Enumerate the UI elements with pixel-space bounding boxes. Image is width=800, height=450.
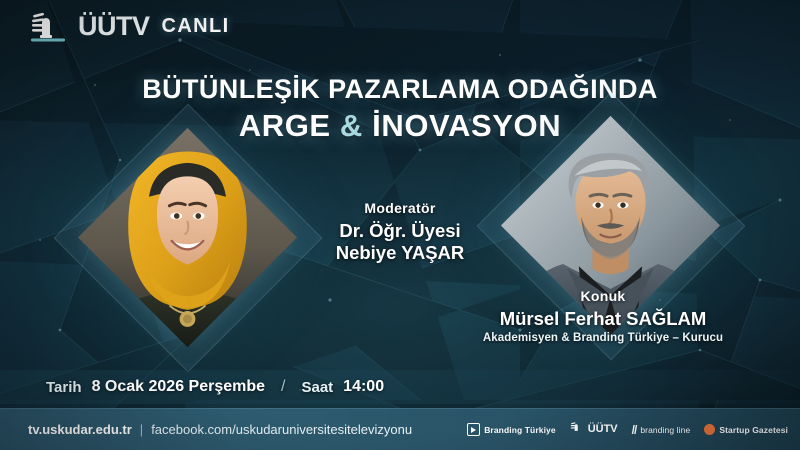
sponsor-label: Startup Gazetesi [719,425,788,435]
sponsor-logos: Branding Türkiye ÜÜTV [467,420,800,439]
footer-divider: | [140,422,143,437]
schedule-bar: Tarih 8 Ocak 2026 Perşembe / Saat 14:00 [0,370,800,404]
guest-subtitle: Akademisyen & Branding Türkiye – Kurucu [418,332,788,344]
guest-name: Mürsel Ferhat SAĞLAM [418,308,788,330]
program-title-line2: ARGE & İNOVASYON [0,109,800,143]
footer-bar: tv.uskudar.edu.tr | facebook.com/uskudar… [0,408,800,450]
footer-links: tv.uskudar.edu.tr | facebook.com/uskudar… [0,422,412,437]
startup-gazetesi-icon [704,424,715,435]
channel-logo-bar: ÜÜTV CANLI [30,8,230,44]
sponsor-label: branding line [640,425,690,435]
title-block: BÜTÜNLEŞİK PAZARLAMA ODAĞINDA ARGE & İNO… [0,74,800,143]
uutv-icon [570,420,584,439]
time-value: 14:00 [343,378,384,396]
title-arge: ARGE [239,108,331,143]
moderator-name-line2: Nebiye YAŞAR [336,242,465,263]
broadcast-promo-banner: ÜÜTV CANLI BÜTÜNLEŞİK PAZARLAMA ODAĞINDA… [0,0,800,450]
moderator-role-label: Moderatör [300,200,500,216]
schedule-separator: / [281,378,285,396]
title-ampersand: & [340,108,363,143]
branding-line-icon: // [632,424,637,436]
channel-logo-text: ÜÜTV [78,13,150,40]
moderator-credit: Moderatör Dr. Öğr. Üyesi Nebiye YAŞAR [300,200,500,264]
sponsor-startup-gazetesi: Startup Gazetesi [704,424,788,435]
title-inovasyon: İNOVASYON [372,108,561,143]
facebook-link[interactable]: facebook.com/uskudaruniversitesitelevizy… [151,422,412,437]
lighthouse-icon [30,8,66,44]
sponsor-branding-line: // branding line [632,424,691,436]
program-title-line1: BÜTÜNLEŞİK PAZARLAMA ODAĞINDA [0,74,800,104]
sponsor-uutv: ÜÜTV [570,420,618,439]
guest-credit: Konuk Mürsel Ferhat SAĞLAM Akademisyen &… [418,288,788,344]
guest-role-label: Konuk [418,288,788,304]
branding-turkiye-icon [467,423,480,436]
moderator-name-line1: Dr. Öğr. Üyesi [339,220,460,241]
sponsor-branding-turkiye: Branding Türkiye [467,423,556,436]
moderator-name: Dr. Öğr. Üyesi Nebiye YAŞAR [300,220,500,264]
live-badge: CANLI [162,15,230,38]
sponsor-label: ÜÜTV [588,424,618,435]
sponsor-label: Branding Türkiye [484,425,556,435]
time-label: Saat [301,379,333,396]
date-value: 8 Ocak 2026 Perşembe [92,378,265,396]
website-link[interactable]: tv.uskudar.edu.tr [28,422,132,437]
date-label: Tarih [46,379,82,396]
